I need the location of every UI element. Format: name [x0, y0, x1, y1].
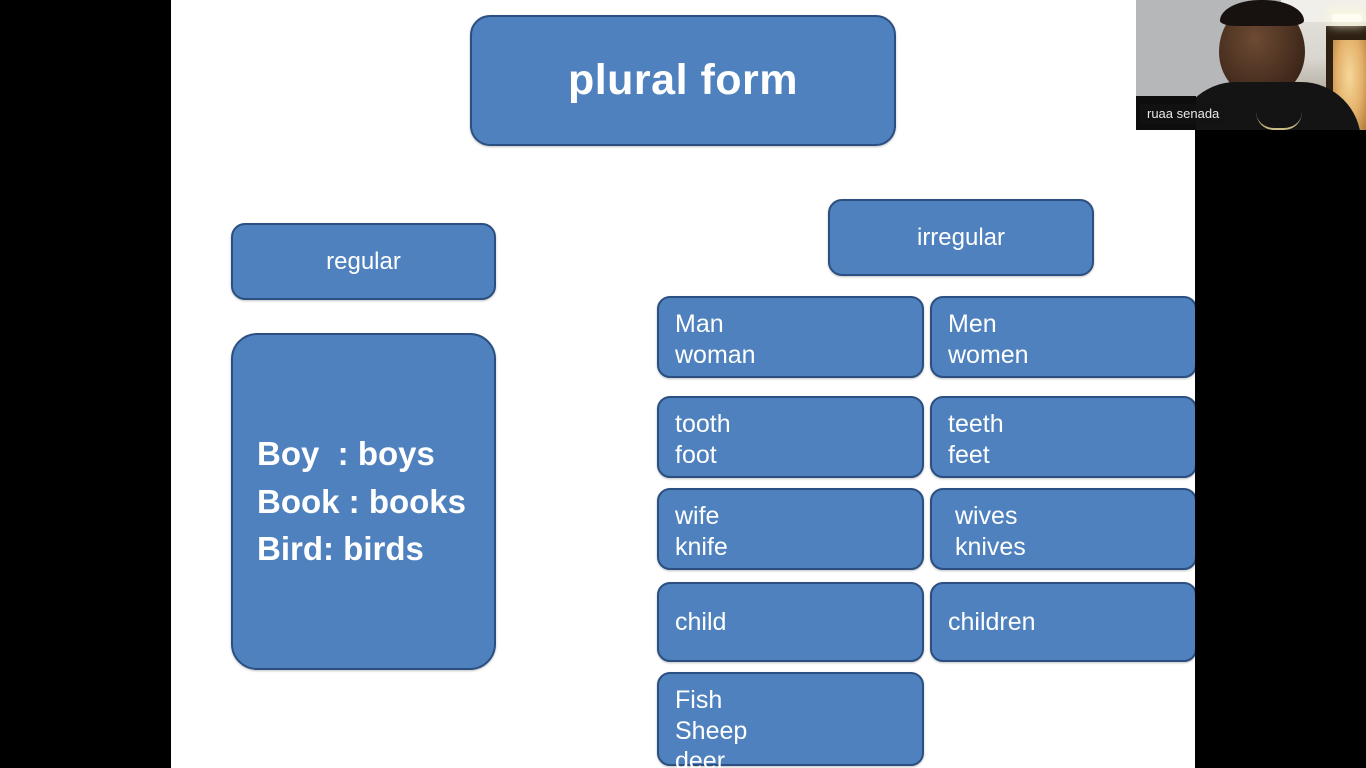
irregular-singular-3-line-2: knife: [675, 532, 922, 563]
irregular-heading-text: irregular: [917, 224, 1005, 252]
irregular-singular-box-4: child: [657, 582, 924, 662]
irregular-plural-1-line-2: women: [948, 340, 1195, 371]
irregular-plural-4-line-1: children: [948, 607, 1036, 638]
regular-example-3: Bird: birds: [257, 525, 494, 573]
webcam-participant-name: ruaa senada: [1140, 104, 1226, 124]
irregular-plural-1-line-1: Men: [948, 309, 1195, 340]
irregular-singular-5-line-3: deer: [675, 746, 922, 768]
irregular-singular-box-2: tooth foot: [657, 396, 924, 478]
irregular-singular-4-line-1: child: [675, 607, 726, 638]
irregular-heading-box: irregular: [828, 199, 1094, 276]
irregular-plural-3-line-2: knives: [948, 532, 1195, 563]
irregular-singular-2-line-2: foot: [675, 440, 922, 471]
regular-example-1: Boy : boys: [257, 430, 494, 478]
slide-title-box: plural form: [470, 15, 896, 146]
irregular-singular-2-line-1: tooth: [675, 409, 922, 440]
irregular-plural-box-4: children: [930, 582, 1195, 662]
irregular-plural-box-1: Men women: [930, 296, 1195, 378]
irregular-singular-5-line-1: Fish: [675, 685, 922, 716]
presentation-slide: plural form regular Boy : boys Book : bo…: [171, 0, 1195, 768]
irregular-singular-5-line-2: Sheep: [675, 716, 922, 747]
webcam-video-tile[interactable]: ruaa senada: [1136, 0, 1366, 130]
regular-heading-text: regular: [326, 248, 401, 276]
slide-title-text: plural form: [568, 56, 798, 105]
irregular-plural-2-line-2: feet: [948, 440, 1195, 471]
irregular-singular-1-line-2: woman: [675, 340, 922, 371]
regular-heading-box: regular: [231, 223, 496, 300]
irregular-singular-box-1: Man woman: [657, 296, 924, 378]
irregular-plural-3-line-1: wives: [948, 501, 1195, 532]
regular-examples-box: Boy : boys Book : books Bird: birds: [231, 333, 496, 670]
irregular-singular-3-line-1: wife: [675, 501, 922, 532]
irregular-plural-2-line-1: teeth: [948, 409, 1195, 440]
irregular-plural-box-2: teeth feet: [930, 396, 1195, 478]
irregular-singular-1-line-1: Man: [675, 309, 922, 340]
screen-root: plural form regular Boy : boys Book : bo…: [0, 0, 1366, 768]
irregular-singular-box-3: wife knife: [657, 488, 924, 570]
webcam-lamp: [1332, 14, 1362, 22]
irregular-plural-box-3: wives knives: [930, 488, 1195, 570]
irregular-singular-box-5: Fish Sheep deer: [657, 672, 924, 766]
regular-example-2: Book : books: [257, 478, 494, 526]
